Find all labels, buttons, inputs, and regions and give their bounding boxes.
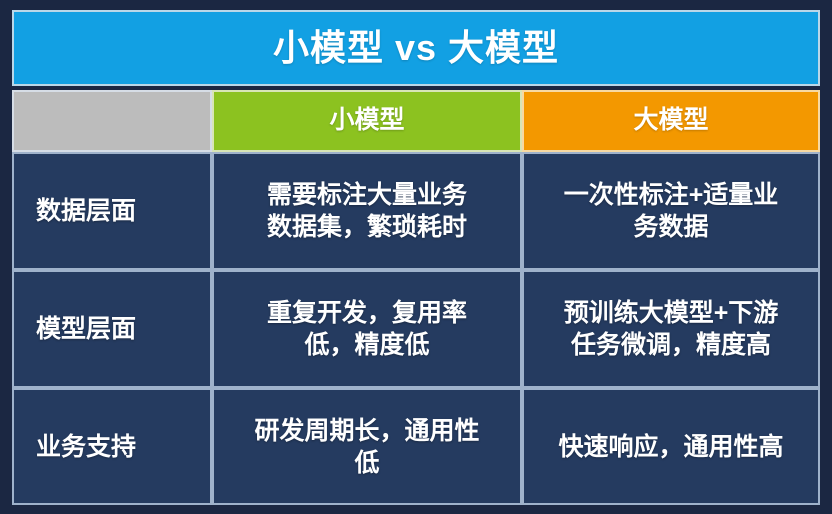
row-label-data-layer: 数据层面 xyxy=(12,152,212,270)
cell-business-support-small-model: 研发周期长，通用性 低 xyxy=(212,388,522,505)
header-large-model-label: 大模型 xyxy=(633,107,708,135)
cell-text: 重复开发，复用率 低，精度低 xyxy=(257,297,477,361)
table-row: 模型层面 重复开发，复用率 低，精度低 预训练大模型+下游 任务微调，精度高 xyxy=(12,270,820,388)
comparison-table: 小模型 大模型 数据层面 需要标注大量业务 数据集，繁琐耗时 一次性标注+适量业… xyxy=(12,90,820,505)
row-label-business-support: 业务支持 xyxy=(12,388,212,505)
cell-text: 研发周期长，通用性 低 xyxy=(244,415,489,479)
row-label-text: 业务支持 xyxy=(36,431,136,463)
slide-root: 小模型 vs 大模型 小模型 大模型 数据层面 需要标注大量业务 数据集，繁琐耗… xyxy=(0,0,832,514)
row-label-model-layer: 模型层面 xyxy=(12,270,212,388)
header-cell-small-model: 小模型 xyxy=(212,90,522,152)
cell-model-layer-small-model: 重复开发，复用率 低，精度低 xyxy=(212,270,522,388)
slide-title-banner: 小模型 vs 大模型 xyxy=(12,10,820,86)
cell-business-support-large-model: 快速响应，通用性高 xyxy=(522,388,820,505)
header-cell-blank xyxy=(12,90,212,152)
cell-text: 一次性标注+适量业 务数据 xyxy=(554,179,789,243)
header-cell-large-model: 大模型 xyxy=(522,90,820,152)
cell-model-layer-large-model: 预训练大模型+下游 任务微调，精度高 xyxy=(522,270,820,388)
cell-text: 预训练大模型+下游 任务微调，精度高 xyxy=(554,297,789,361)
row-label-text: 数据层面 xyxy=(36,195,136,227)
page-title: 小模型 vs 大模型 xyxy=(273,30,559,66)
cell-data-layer-large-model: 一次性标注+适量业 务数据 xyxy=(522,152,820,270)
header-small-model-label: 小模型 xyxy=(329,107,404,135)
cell-data-layer-small-model: 需要标注大量业务 数据集，繁琐耗时 xyxy=(212,152,522,270)
table-row: 数据层面 需要标注大量业务 数据集，繁琐耗时 一次性标注+适量业 务数据 xyxy=(12,152,820,270)
cell-text: 快速响应，通用性高 xyxy=(548,431,793,463)
table-header-row: 小模型 大模型 xyxy=(12,90,820,152)
cell-text: 需要标注大量业务 数据集，繁琐耗时 xyxy=(257,179,477,243)
row-label-text: 模型层面 xyxy=(36,313,136,345)
table-row: 业务支持 研发周期长，通用性 低 快速响应，通用性高 xyxy=(12,388,820,505)
